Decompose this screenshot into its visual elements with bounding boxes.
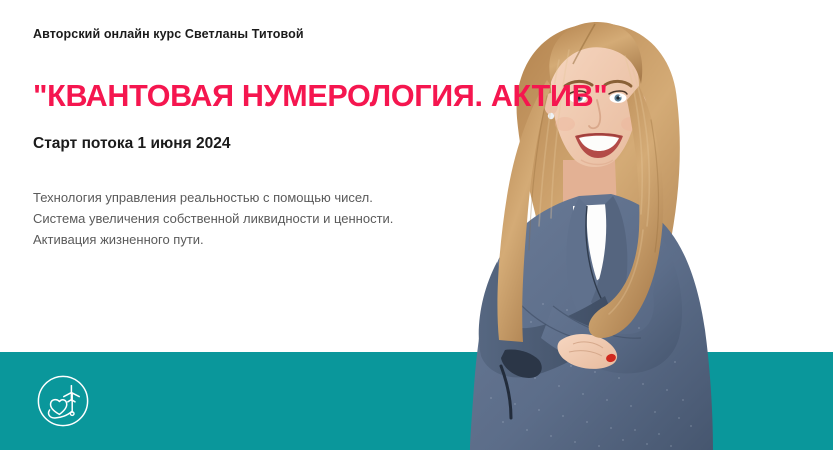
course-description: Технология управления реальностью с помо… <box>33 187 393 250</box>
heart-airplane-circle-logo <box>36 374 90 428</box>
start-date-label: Старт потока 1 июня 2024 <box>33 134 230 154</box>
banner-text-block: Авторский онлайн курс Светланы Титовой "… <box>33 26 563 42</box>
course-author-line: Авторский онлайн курс Светланы Титовой <box>33 26 563 42</box>
description-line-2: Система увеличения собственной ликвиднос… <box>33 208 393 229</box>
description-line-1: Технология управления реальностью с помо… <box>33 187 393 208</box>
presenter-portrait <box>455 0 745 450</box>
description-line-3: Активация жизненного пути. <box>33 229 393 250</box>
page-title: "КВАНТОВАЯ НУМЕРОЛОГИЯ. АКТИВ" <box>33 78 607 114</box>
course-promo-banner: Авторский онлайн курс Светланы Титовой "… <box>0 0 833 450</box>
